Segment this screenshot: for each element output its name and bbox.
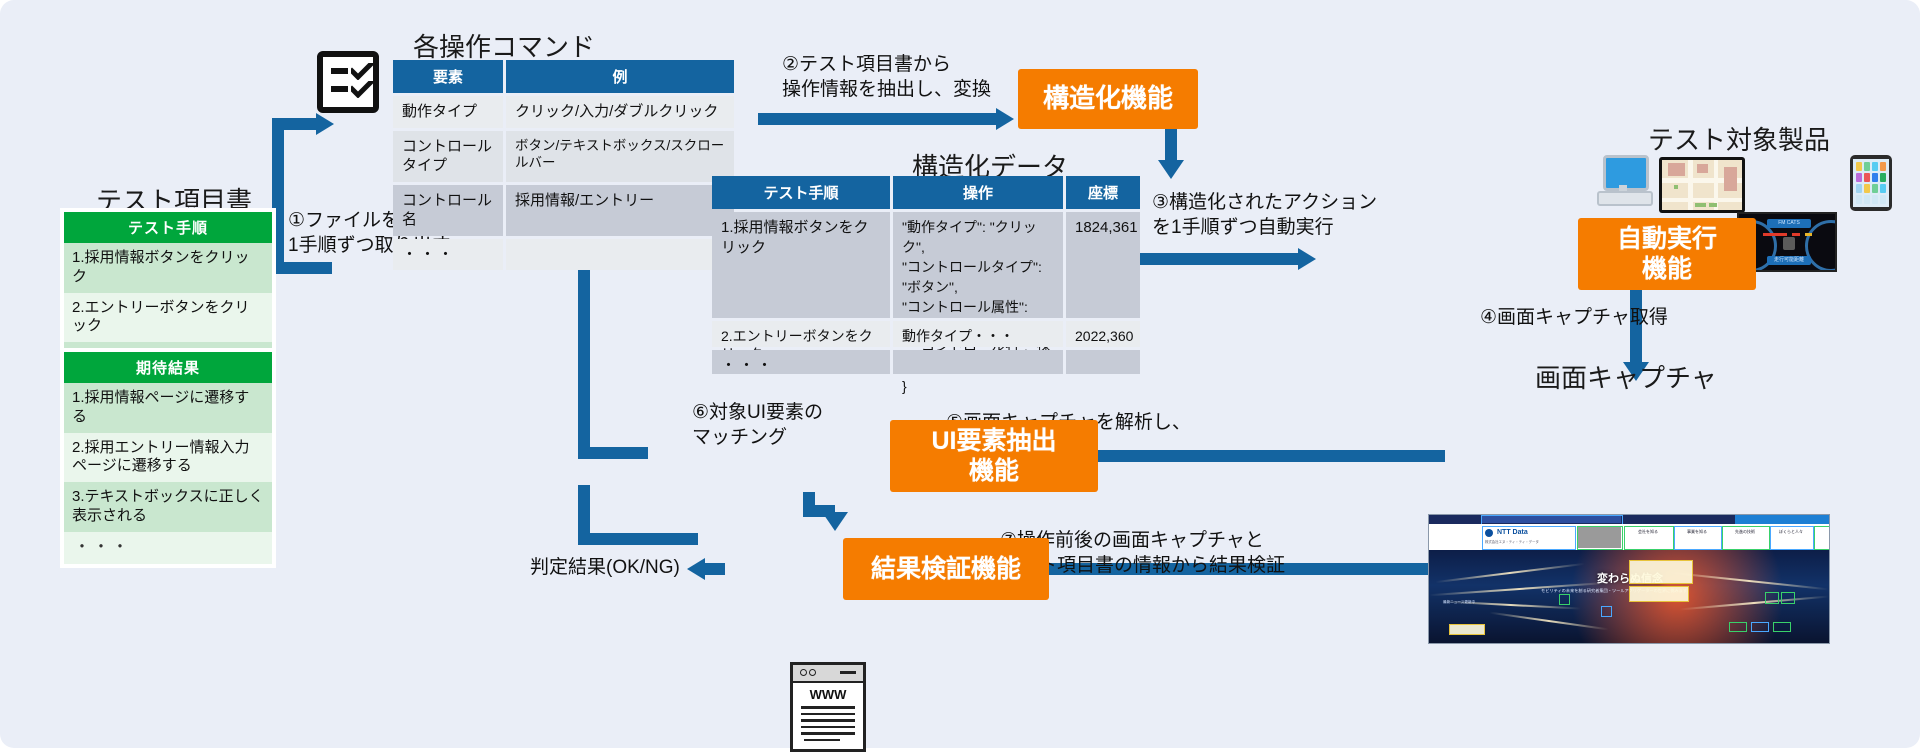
ui-extraction-label-line2: 機能 — [969, 456, 1019, 487]
auto-execution-function-box[interactable]: 自動実行 機能 — [1578, 218, 1756, 290]
command-table-header-cell: 要素 — [393, 60, 503, 93]
ui-extraction-label-line1: UI要素抽出 — [931, 426, 1056, 457]
table-row: 2.エントリーボタンをクリック 動作タイプ・・・ 2022,360 — [712, 321, 1140, 347]
page-title-target-product: テスト対象製品 — [1648, 120, 1830, 157]
test-doc-expected-row: 3.テキストボックスに正しく表示される — [64, 482, 272, 532]
structured-cell-operation: "動作タイプ": "クリック", "コントロールタイプ": "ボタン", "コン… — [893, 212, 1063, 318]
test-doc-step-row: 1.採用情報ボタンをクリック — [64, 243, 272, 293]
table-row: 動作タイプ クリック/入力/ダブルクリック — [393, 96, 734, 128]
result-verification-label: 結果検証機能 — [871, 554, 1021, 585]
connector-3-arrowhead — [1298, 248, 1316, 270]
test-doc-expected-row: 2.採用エントリー情報入力ページに遷移する — [64, 433, 272, 483]
connector-ui-to-result-arrowhead — [822, 512, 848, 531]
test-doc-expected-row: ・・・ — [64, 532, 272, 564]
capture-hero-note: 最新ニュース更新中 — [1443, 600, 1475, 605]
connector-1-horizontal2 — [272, 118, 318, 130]
connector-struct-down-arrowhead — [1158, 160, 1184, 179]
structured-table-header-operation: 操作 — [893, 176, 1063, 209]
structured-cell-coord — [1066, 350, 1140, 374]
desktop-computer-icon — [1595, 155, 1655, 207]
table-row: 1.採用情報ボタンをクリック "動作タイプ": "クリック", "コントロールタ… — [712, 212, 1140, 318]
annotation-step-3: ③構造化されたアクション を1手順ずつ自動実行 — [1152, 190, 1377, 240]
car-navigation-icon — [1659, 157, 1745, 213]
structured-cell-coord: 1824,361 — [1066, 212, 1140, 318]
table-row: ・・・ — [712, 350, 1140, 374]
structuring-function-box[interactable]: 構造化機能 — [1018, 69, 1198, 129]
test-doc-expected-row: 1.採用情報ページに遷移する — [64, 383, 272, 433]
command-table-cell-example — [506, 239, 734, 271]
screen-capture-thumbnail: NTT Data 株式会社エヌ・ティ・ティ・データ 会社を知る 事業を知る 先進… — [1428, 514, 1830, 644]
command-table-cell-example: クリック/入力/ダブルクリック — [506, 96, 734, 128]
table-row: ・・・ — [393, 239, 734, 271]
structured-cell-operation: 動作タイプ・・・ — [893, 321, 1063, 347]
connector-2-line — [758, 113, 998, 125]
page-title-screen-capture: 画面キャプチャ — [1535, 358, 1717, 395]
table-row: コントロール名 採用情報/エントリー — [393, 185, 734, 236]
tablet-icon — [1850, 155, 1892, 211]
structured-cell-step: 2.エントリーボタンをクリック — [712, 321, 890, 347]
connector-result-out-line — [705, 563, 725, 575]
structured-table: テスト手順 操作 座標 1.採用情報ボタンをクリック "動作タイプ": "クリッ… — [712, 176, 1140, 374]
result-verification-function-box[interactable]: 結果検証機能 — [843, 538, 1049, 600]
connector-left-horiz — [578, 533, 698, 545]
ui-element-extraction-function-box[interactable]: UI要素抽出 機能 — [890, 420, 1098, 492]
test-doc-expected-header: 期待結果 — [64, 352, 272, 383]
connector-6-vertical — [578, 253, 590, 459]
connector-struct-down-line — [1165, 128, 1177, 163]
test-doc-step-row: 2.エントリーボタンをクリック — [64, 293, 272, 343]
annotation-step-4: ④画面キャプチャ取得 — [1480, 305, 1668, 330]
test-doc-steps-header: テスト手順 — [64, 212, 272, 243]
command-table-header-cell: 例 — [506, 60, 734, 93]
connector-result-out-arrowhead — [687, 558, 705, 580]
structured-table-header-coord: 座標 — [1066, 176, 1140, 209]
page-title-commands: 各操作コマンド — [413, 27, 595, 64]
connector-3-line — [1140, 253, 1300, 265]
diagram-canvas: テスト項目書 テスト手順 1.採用情報ボタンをクリック 2.エントリーボタンをク… — [0, 0, 1920, 748]
structured-cell-step: ・・・ — [712, 350, 890, 374]
command-table-cell-element: コントロール名 — [393, 185, 503, 236]
capture-top-banner — [1429, 515, 1829, 524]
structuring-function-label: 構造化機能 — [1043, 83, 1173, 115]
command-table-cell-example: ボタン/テキストボックス/スクロールバー — [506, 131, 734, 182]
browser-www-icon: WWW — [790, 662, 866, 752]
structured-cell-step: 1.採用情報ボタンをクリック — [712, 212, 890, 318]
command-table-cell-example: 採用情報/エントリー — [506, 185, 734, 236]
capture-nav-bar: NTT Data 株式会社エヌ・ティ・ティ・データ 会社を知る 事業を知る 先進… — [1429, 524, 1829, 550]
structured-cell-operation — [893, 350, 1063, 374]
structured-cell-coord: 2022,360 — [1066, 321, 1140, 347]
table-row: コントロールタイプ ボタン/テキストボックス/スクロールバー — [393, 131, 734, 182]
connector-2-arrowhead — [996, 108, 1014, 130]
annotation-step-6: ⑥対象UI要素の マッチング — [692, 400, 823, 450]
capture-hero: 変わらぬ信念 モビリティの未来を創る研究者集団・ツールアグリゲーターの世界に挑み… — [1429, 550, 1829, 643]
auto-execution-label-line1: 自動実行 — [1617, 224, 1717, 255]
command-table: 要素 例 動作タイプ クリック/入力/ダブルクリック コントロールタイプ ボタン… — [393, 60, 734, 270]
judgement-result-label: 判定結果(OK/NG) — [530, 552, 680, 579]
auto-execution-label-line2: 機能 — [1642, 254, 1692, 285]
command-table-cell-element: 動作タイプ — [393, 96, 503, 128]
annotation-step-2: ②テスト項目書から 操作情報を抽出し、変換 — [782, 52, 991, 102]
command-table-cell-element: ・・・ — [393, 239, 503, 271]
connector-1-arrowhead — [316, 113, 334, 135]
test-doc-section-expected: 期待結果 1.採用情報ページに遷移する 2.採用エントリー情報入力ページに遷移す… — [60, 348, 276, 568]
structured-table-header-step: テスト手順 — [712, 176, 890, 209]
checklist-icon — [317, 51, 379, 113]
command-table-cell-element: コントロールタイプ — [393, 131, 503, 182]
